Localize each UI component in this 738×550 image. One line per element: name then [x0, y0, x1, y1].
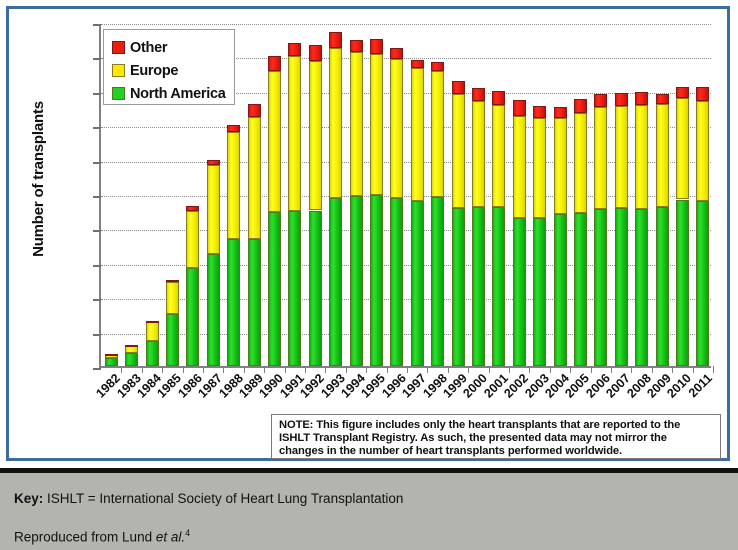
bar-segment-north-america — [329, 198, 342, 366]
bar-segment-other — [227, 125, 240, 132]
bar — [248, 22, 261, 366]
x-axis-tick — [713, 366, 714, 373]
bar-segment-other — [329, 32, 342, 48]
bar-segment-north-america — [288, 211, 301, 366]
bar-segment-europe — [452, 94, 465, 208]
bar-segment-other — [166, 280, 179, 282]
bar-segment-europe — [329, 48, 342, 198]
y-axis-tick — [93, 58, 101, 60]
bar — [574, 22, 587, 366]
bar-segment-other — [390, 48, 403, 59]
y-axis-tick — [93, 334, 101, 336]
y-axis-tick — [93, 93, 101, 95]
bar-segment-other — [268, 56, 281, 70]
bar-segment-other — [594, 94, 607, 107]
chart-panel: Number of transplants 500045004000350030… — [6, 6, 730, 461]
footer-key-prefix: Key: — [14, 491, 43, 506]
y-axis-tick — [93, 299, 101, 301]
bar-segment-north-america — [533, 218, 546, 366]
legend-swatch-icon — [112, 64, 125, 77]
footer-credit-prefix: Reproduced from Lund — [14, 530, 152, 545]
bar-segment-other — [186, 206, 199, 212]
bar — [309, 22, 322, 366]
bar — [492, 22, 505, 366]
bar-segment-europe — [635, 105, 648, 209]
bar-segment-other — [411, 60, 424, 68]
bar-segment-other — [615, 93, 628, 106]
bar — [329, 22, 342, 366]
bar-segment-europe — [676, 98, 689, 200]
bar-segment-other — [370, 39, 383, 53]
bar-segment-north-america — [615, 208, 628, 366]
bar-segment-north-america — [146, 341, 159, 366]
bar-segment-europe — [350, 52, 363, 196]
bar-segment-europe — [656, 104, 669, 207]
y-axis-tick — [93, 196, 101, 198]
bar-segment-europe — [615, 106, 628, 209]
bar-segment-europe — [288, 56, 301, 211]
x-axis-labels: 1982198319841985198619871988198919901991… — [99, 371, 711, 419]
bar — [513, 22, 526, 366]
bar-segment-other — [513, 100, 526, 116]
bar-segment-other — [492, 91, 505, 104]
bar — [615, 22, 628, 366]
bar-segment-other — [676, 87, 689, 97]
bar-segment-north-america — [350, 196, 363, 366]
legend-swatch-icon — [112, 41, 125, 54]
footer-key-line: Key: ISHLT = International Society of He… — [14, 491, 738, 506]
bar-segment-north-america — [574, 213, 587, 366]
bar-segment-other — [288, 43, 301, 57]
bar-segment-europe — [533, 118, 546, 218]
bar — [656, 22, 669, 366]
y-axis-tick — [93, 265, 101, 267]
legend-item: Other — [112, 36, 234, 59]
y-axis-tick — [93, 162, 101, 164]
bar-segment-north-america — [186, 268, 199, 366]
bar-segment-north-america — [431, 197, 444, 366]
bar-segment-europe — [554, 118, 567, 214]
bar-segment-north-america — [125, 353, 138, 366]
note-line: NOTE: This figure includes only the hear… — [279, 419, 714, 432]
bar-segment-other — [248, 104, 261, 117]
bar-segment-north-america — [390, 198, 403, 366]
bar-segment-europe — [431, 71, 444, 198]
legend-item: Europe — [112, 59, 234, 82]
note-box: NOTE: This figure includes only the hear… — [271, 414, 721, 459]
bar-segment-europe — [186, 211, 199, 268]
bar-segment-europe — [492, 105, 505, 208]
bar-segment-other — [554, 107, 567, 117]
bar-segment-north-america — [370, 195, 383, 366]
footer-credit-italic: et al. — [156, 530, 185, 545]
bar-segment-other — [635, 92, 648, 105]
bar-segment-north-america — [696, 201, 709, 366]
bar-segment-europe — [411, 68, 424, 201]
bar-segment-europe — [207, 165, 220, 254]
bar-segment-europe — [248, 117, 261, 239]
bar-segment-europe — [696, 101, 709, 201]
bar-segment-europe — [370, 54, 383, 196]
bar — [472, 22, 485, 366]
y-axis-tick — [93, 230, 101, 232]
bar-segment-other — [125, 345, 138, 347]
bar-segment-europe — [390, 59, 403, 198]
bar-segment-europe — [472, 101, 485, 207]
footer-credit-line: Reproduced from Lund et al.4 — [14, 528, 738, 545]
bar-segment-north-america — [554, 214, 567, 366]
bar-segment-other — [146, 321, 159, 323]
note-line: ISHLT Transplant Registry. As such, the … — [279, 432, 714, 445]
bar-segment-other — [105, 354, 118, 356]
bar-segment-north-america — [309, 211, 322, 366]
bar — [452, 22, 465, 366]
note-line: changes in the number of heart transplan… — [279, 445, 714, 458]
footer-key-text: ISHLT = International Society of Heart L… — [47, 491, 403, 506]
bar-segment-north-america — [268, 212, 281, 366]
bar-segment-europe — [574, 113, 587, 213]
bar-segment-other — [533, 106, 546, 118]
bar — [288, 22, 301, 366]
bar-segment-north-america — [492, 207, 505, 366]
bar-segment-north-america — [227, 239, 240, 366]
y-axis-tick — [93, 368, 101, 370]
bar — [676, 22, 689, 366]
bar — [390, 22, 403, 366]
figure-container: Number of transplants 500045004000350030… — [0, 0, 738, 550]
bar-segment-europe — [166, 282, 179, 314]
bar-segment-north-america — [207, 254, 220, 366]
bar-segment-north-america — [513, 218, 526, 366]
bar-segment-north-america — [166, 314, 179, 366]
bar-segment-other — [696, 87, 709, 101]
bar-segment-other — [452, 81, 465, 94]
legend-label: North America — [130, 86, 225, 102]
bar — [696, 22, 709, 366]
bar-segment-north-america — [411, 201, 424, 366]
bar — [411, 22, 424, 366]
bar-segment-north-america — [594, 209, 607, 366]
bar — [370, 22, 383, 366]
bar — [594, 22, 607, 366]
bar — [268, 22, 281, 366]
footer-credit-superscript: 4 — [185, 528, 190, 538]
bar-segment-europe — [309, 61, 322, 211]
bar — [350, 22, 363, 366]
legend-swatch-icon — [112, 87, 125, 100]
bar — [533, 22, 546, 366]
bar — [554, 22, 567, 366]
bar-segment-europe — [268, 71, 281, 212]
bar-segment-north-america — [105, 358, 118, 366]
bar-segment-other — [656, 94, 669, 104]
legend-label: Other — [130, 40, 167, 56]
bar-segment-north-america — [635, 209, 648, 366]
chart-legend: OtherEuropeNorth America — [103, 29, 235, 105]
legend-label: Europe — [130, 63, 178, 79]
y-axis-tick — [93, 127, 101, 129]
bar-segment-other — [431, 62, 444, 71]
bar-segment-europe — [227, 132, 240, 239]
bar-segment-north-america — [676, 200, 689, 366]
bar-segment-north-america — [452, 208, 465, 366]
y-axis-title: Number of transplants — [30, 84, 50, 274]
figure-footer: Key: ISHLT = International Society of He… — [0, 468, 738, 550]
bar-segment-europe — [513, 116, 526, 218]
y-axis-tick — [93, 24, 101, 26]
bar-segment-north-america — [656, 207, 669, 366]
bar-segment-europe — [146, 322, 159, 341]
bar — [635, 22, 648, 366]
bar-segment-other — [574, 99, 587, 113]
bar-segment-other — [207, 160, 220, 165]
bar-segment-other — [350, 40, 363, 52]
bar-segment-north-america — [472, 207, 485, 366]
legend-item: North America — [112, 82, 234, 105]
bar-segment-europe — [594, 107, 607, 209]
bar — [431, 22, 444, 366]
bar-segment-north-america — [248, 239, 261, 366]
bar-segment-other — [309, 45, 322, 61]
bar-segment-other — [472, 88, 485, 101]
